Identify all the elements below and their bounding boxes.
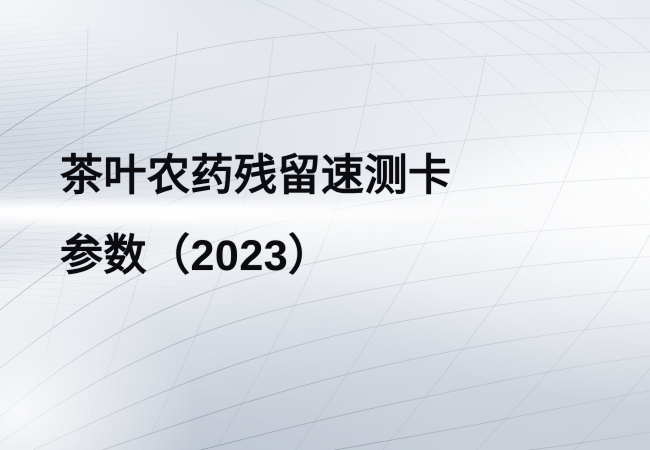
page-title: 茶叶农药残留速测卡 参数（2023） [60, 136, 452, 296]
title-line-2: 参数（2023） [60, 216, 452, 296]
title-line-1: 茶叶农药残留速测卡 [60, 136, 452, 216]
title-banner: 茶叶农药残留速测卡 参数（2023） [0, 0, 650, 450]
